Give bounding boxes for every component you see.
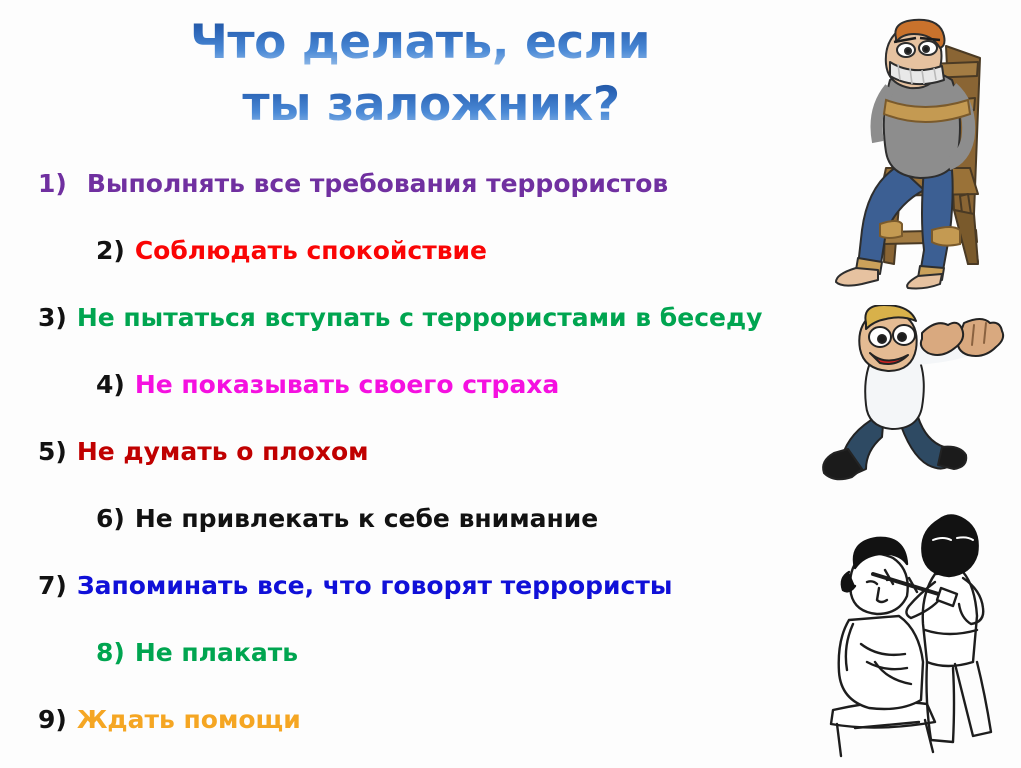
frightened-kneeling-man-illustration (818, 305, 1008, 510)
list-item-7-number: 7) (38, 571, 67, 600)
list-item-9-text: Ждать помощи (77, 705, 301, 734)
list-item-8: 8) Не плакать (0, 619, 830, 686)
list-item-4-number: 4) (96, 370, 125, 399)
list-item-6-number: 6) (96, 504, 125, 533)
list-item-5: 5) Не думать о плохом (0, 418, 830, 485)
list-item-6-text: Не привлекать к себе внимание (135, 504, 598, 533)
list-item-6: 6) Не привлекать к себе внимание (0, 485, 830, 552)
hostage-tied-to-chair-illustration (828, 18, 1008, 290)
list-item-1: 1) Выполнять все требования террористов (0, 150, 830, 217)
list-item-9-number: 9) (38, 705, 67, 734)
title-line-2: ты заложник? (110, 74, 730, 136)
list-item-3-text: Не пытаться вступать с террористами в бе… (77, 303, 763, 332)
title-line-1: Что делать, если (110, 12, 730, 74)
masked-gunman-with-hostage-illustration (815, 512, 1011, 760)
list-item-4: 4) Не показывать своего страха (0, 351, 830, 418)
list-item-8-text: Не плакать (135, 638, 298, 667)
list-item-7-text: Запоминать все, что говорят террористы (77, 571, 673, 600)
list-item-2-number: 2) (96, 236, 125, 265)
list-item-5-text: Не думать о плохом (77, 437, 369, 466)
list-item-9: 9) Ждать помощи (0, 686, 830, 753)
list-item-7: 7) Запоминать все, что говорят террорист… (0, 552, 830, 619)
list-item-2: 2) Соблюдать спокойствие (0, 217, 830, 284)
list-item-8-number: 8) (96, 638, 125, 667)
list-item-1-text: Выполнять все требования террористов (87, 169, 668, 198)
list-item-4-text: Не показывать своего страха (135, 370, 559, 399)
slide-canvas: Что делать, если ты заложник? 1) Выполня… (0, 0, 1021, 768)
advice-list: 1) Выполнять все требования террористов … (0, 150, 830, 753)
list-item-2-text: Соблюдать спокойствие (135, 236, 487, 265)
page-title: Что делать, если ты заложник? (110, 12, 730, 136)
list-item-5-number: 5) (38, 437, 67, 466)
list-item-3-number: 3) (38, 303, 67, 332)
list-item-3: 3) Не пытаться вступать с террористами в… (0, 284, 830, 351)
list-item-1-number: 1) (38, 169, 67, 198)
